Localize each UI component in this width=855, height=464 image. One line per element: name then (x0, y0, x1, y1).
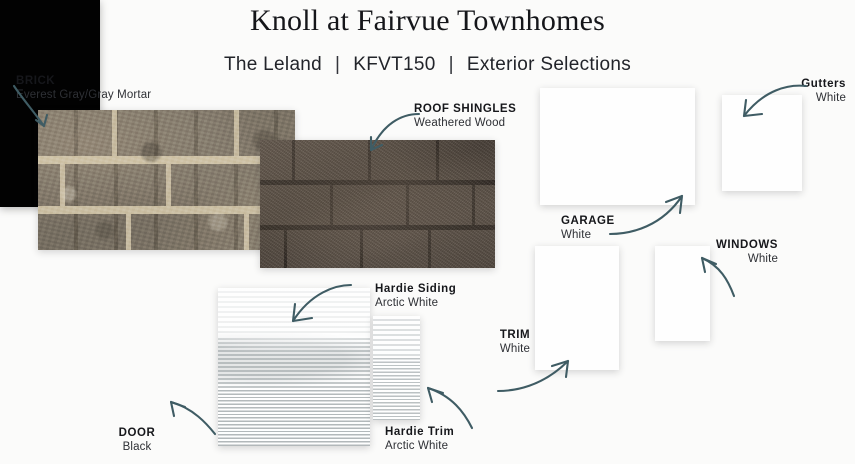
callout-windows-value: White (672, 253, 778, 267)
callout-brick-value: Everest Gray/Gray Mortar (16, 89, 151, 103)
callout-door: DOOR Black (92, 427, 182, 454)
arrow-hardie-trim (420, 384, 478, 432)
page-title: Knoll at Fairvue Townhomes (0, 4, 855, 38)
callout-roof-shingles-title: ROOF SHINGLES (414, 103, 516, 117)
brick-grain (38, 110, 295, 250)
subtitle-separator-1: | (322, 54, 353, 76)
callout-hardie-trim-title: Hardie Trim (385, 426, 454, 440)
callout-gutters-title: Gutters (744, 78, 846, 92)
callout-door-value: Black (92, 441, 182, 455)
swatch-garage (540, 88, 695, 205)
selection-board: Knoll at Fairvue Townhomes The Leland|KF… (0, 0, 855, 464)
callout-door-title: DOOR (92, 427, 182, 441)
callout-trim-value: White (492, 343, 538, 357)
callout-garage-value: White (561, 229, 615, 243)
callout-hardie-siding-title: Hardie Siding (375, 283, 456, 297)
callout-windows: WINDOWS White (672, 239, 778, 266)
swatch-trim (535, 246, 619, 370)
callout-brick-title: BRICK (16, 75, 151, 89)
siding-highlight (218, 288, 370, 446)
callout-hardie-siding-value: Arctic White (375, 297, 456, 311)
hardie-trim-grain-bottom (373, 356, 420, 420)
callout-hardie-siding: Hardie Siding Arctic White (375, 283, 456, 310)
callout-roof-shingles: ROOF SHINGLES Weathered Wood (414, 103, 516, 130)
callout-hardie-trim: Hardie Trim Arctic White (385, 426, 454, 453)
page-subtitle: The Leland|KFVT150|Exterior Selections (0, 54, 855, 76)
hardie-trim-grain-top (373, 316, 420, 356)
callout-hardie-trim-value: Arctic White (385, 440, 454, 454)
callout-gutters: Gutters White (744, 78, 846, 105)
callout-trim-title: TRIM (492, 329, 538, 343)
subtitle-separator-2: | (436, 54, 467, 76)
subtitle-code: KFVT150 (353, 54, 435, 76)
callout-gutters-value: White (744, 92, 846, 106)
swatch-hardie-trim (373, 316, 420, 420)
callout-windows-title: WINDOWS (672, 239, 778, 253)
callout-roof-shingles-value: Weathered Wood (414, 117, 516, 131)
callout-garage-title: GARAGE (561, 215, 615, 229)
swatch-brick (38, 110, 295, 250)
callout-brick: BRICK Everest Gray/Gray Mortar (16, 75, 151, 102)
subtitle-category: Exterior Selections (467, 54, 631, 76)
shingle-granule-texture (260, 140, 495, 268)
callout-garage: GARAGE White (561, 215, 615, 242)
subtitle-plan: The Leland (224, 54, 322, 76)
swatch-gutters (722, 95, 802, 191)
callout-trim: TRIM White (492, 329, 538, 356)
swatch-hardie-siding (218, 288, 370, 446)
swatch-roof-shingles (260, 140, 495, 268)
